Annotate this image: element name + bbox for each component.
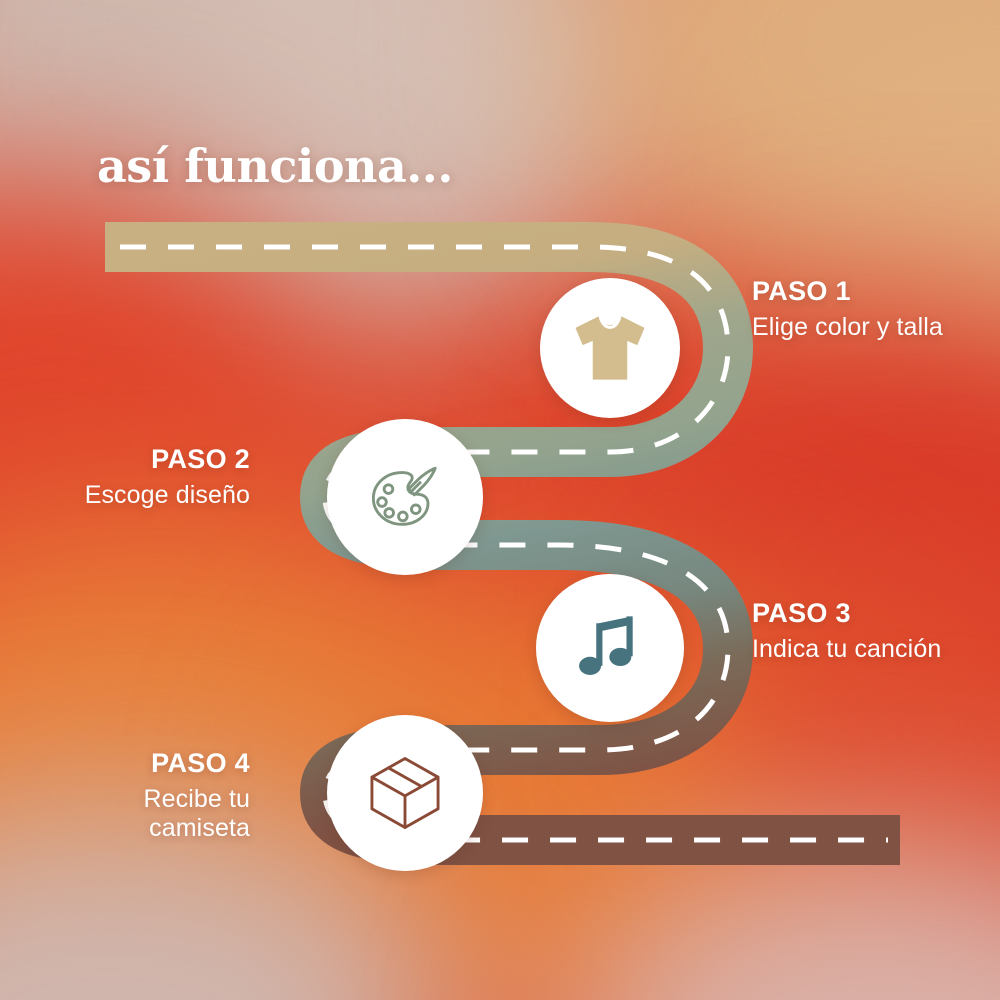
step-desc-3: Indica tu canción (752, 635, 941, 665)
step-number-4: PASO 4 (110, 748, 250, 780)
page-title: así funciona... (97, 139, 453, 193)
tshirt-icon (564, 302, 656, 394)
step-marker-4[interactable] (327, 715, 483, 871)
step-label-2: PASO 2 Escoge diseño (85, 444, 250, 510)
step-marker-1[interactable] (540, 278, 680, 418)
step-label-1: PASO 1 Elige color y talla (752, 276, 943, 342)
step-number-2: PASO 2 (85, 444, 250, 476)
step-desc-1: Elige color y talla (752, 313, 943, 343)
step-desc-4: Recibe tu camiseta (110, 785, 250, 844)
music-note-icon (566, 604, 654, 692)
step-label-3: PASO 3 Indica tu canción (752, 598, 941, 664)
step-number-1: PASO 1 (752, 276, 943, 308)
step-desc-2: Escoge diseño (85, 481, 250, 511)
step-marker-2[interactable] (327, 419, 483, 575)
paint-palette-icon (359, 451, 451, 543)
package-box-icon (359, 747, 451, 839)
step-number-3: PASO 3 (752, 598, 941, 630)
step-marker-3[interactable] (536, 574, 684, 722)
infographic-canvas: así funciona... (0, 0, 1000, 1000)
step-label-4: PASO 4 Recibe tu camiseta (110, 748, 250, 844)
